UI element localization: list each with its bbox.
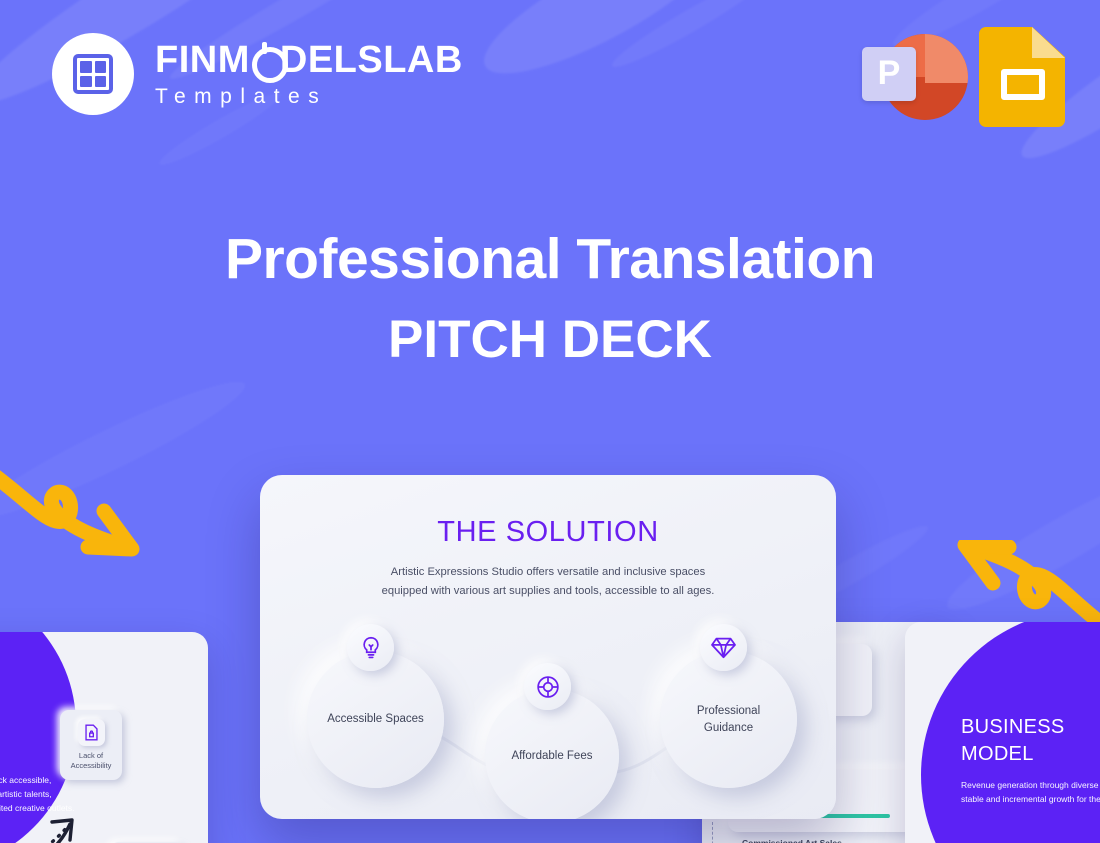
feature-circle-accessible-spaces: Accessible Spaces bbox=[307, 651, 444, 788]
business-heading-line2: MODEL bbox=[961, 743, 1034, 765]
brush-stroke bbox=[936, 458, 1100, 626]
business-text: BUSINESSMODEL Revenue generation through… bbox=[961, 714, 1100, 807]
slide-business-model[interactable]: BUSINESSMODEL Revenue generation through… bbox=[905, 622, 1100, 843]
powerpoint-square: P bbox=[862, 47, 916, 101]
slide-the-problem[interactable]: Lack of Accessibility Limited Resources … bbox=[0, 632, 208, 843]
brush-stroke bbox=[0, 366, 254, 533]
brand-subtitle: Templates bbox=[155, 86, 463, 107]
slide-the-solution[interactable]: THE SOLUTION Artistic Expressions Studio… bbox=[260, 475, 836, 819]
solution-heading: THE SOLUTION bbox=[260, 516, 836, 549]
solution-body: Artistic Expressions Studio offers versa… bbox=[375, 563, 721, 602]
revenue-caption: Commissioned Art Sales bbox=[742, 838, 842, 843]
slides-screen-shape bbox=[1001, 69, 1045, 100]
brand-o-ring-icon bbox=[250, 45, 280, 75]
problem-body: Many individuals and communities lack ac… bbox=[0, 773, 75, 815]
brand-logo[interactable]: FINMDELSLAB Templates bbox=[52, 33, 463, 115]
problem-heading: THE PROBLEM bbox=[0, 742, 75, 764]
feature-label: Professional Guidance bbox=[660, 703, 797, 736]
app-format-icons: P bbox=[862, 27, 1065, 127]
business-heading: BUSINESSMODEL bbox=[961, 714, 1100, 768]
brush-stroke bbox=[469, 0, 731, 97]
title-line-1: Professional Translation bbox=[0, 228, 1100, 291]
feature-label: Accessible Spaces bbox=[315, 711, 436, 728]
locked-document-icon bbox=[78, 719, 105, 746]
google-slides-icon[interactable] bbox=[979, 27, 1065, 127]
problem-text: THE PROBLEM Many individuals and communi… bbox=[0, 742, 75, 815]
grid-squares-icon bbox=[73, 54, 113, 94]
brush-stroke bbox=[607, 0, 774, 76]
powerpoint-letter: P bbox=[878, 54, 901, 93]
title-line-2: PITCH DECK bbox=[0, 311, 1100, 369]
lightbulb-icon bbox=[347, 624, 394, 671]
diamond-icon bbox=[700, 624, 747, 671]
title-block: Professional Translation PITCH DECK bbox=[0, 228, 1100, 369]
logo-badge bbox=[52, 33, 134, 115]
business-heading-line1: BUSINESS bbox=[961, 716, 1065, 738]
powerpoint-icon[interactable]: P bbox=[862, 30, 957, 125]
brand-name-part2: DELSLAB bbox=[280, 39, 463, 81]
brand-name-part1: FINM bbox=[155, 39, 250, 81]
feature-label: Affordable Fees bbox=[500, 748, 605, 765]
brand-name: FINMDELSLAB bbox=[155, 41, 463, 79]
lifebuoy-icon bbox=[524, 663, 571, 710]
brand-text: FINMDELSLAB Templates bbox=[155, 41, 463, 107]
slide-previews: Lack of Accessibility Limited Resources … bbox=[0, 612, 1100, 843]
business-body: Revenue generation through diverse strea… bbox=[961, 778, 1100, 807]
slide-preview-page: FINMDELSLAB Templates P Professional Tra… bbox=[0, 0, 1100, 843]
squiggly-arrow-down-right-icon bbox=[0, 447, 178, 557]
feature-circle-professional-guidance: Professional Guidance bbox=[660, 651, 797, 788]
